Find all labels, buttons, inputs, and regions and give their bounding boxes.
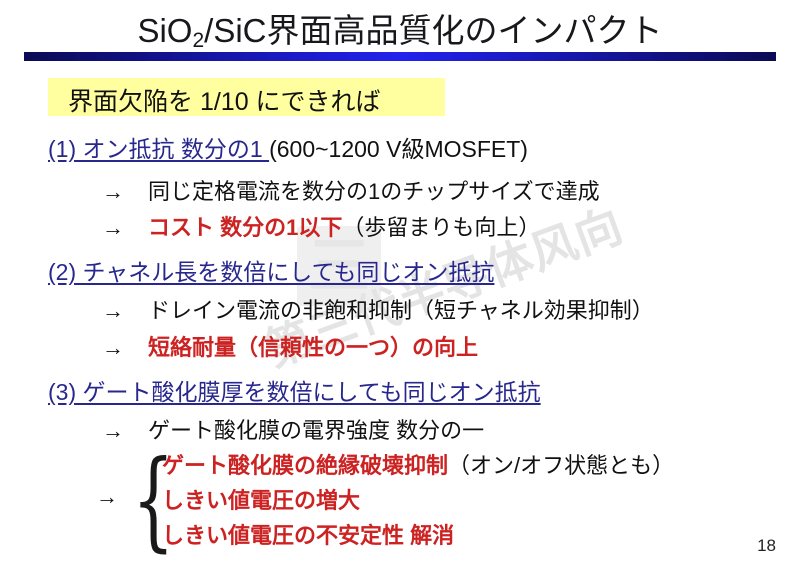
arrow-icon: → xyxy=(96,484,118,510)
brace-item-1: ゲート酸化膜の絶縁破壊抑制（オン/オフ状態とも） xyxy=(162,448,674,483)
brace-item-list: ゲート酸化膜の絶縁破壊抑制（オン/オフ状態とも） しきい値電圧の増大 しきい値電… xyxy=(162,448,674,553)
section-3-heading: (3) ゲート酸化膜厚を数倍にしても同じオン抵抗 xyxy=(48,373,541,407)
section-2-bullet-2-red: 短絡耐量（信頼性の一つ）の向上 xyxy=(148,335,478,360)
section-1-bullet-1: →同じ定格電流を数分の1のチップサイズで達成 xyxy=(102,174,600,206)
section-3-bullet-1-text: ゲート酸化膜の電界強度 数分の一 xyxy=(148,418,484,443)
section-1-heading-black: (600~1200 V級MOSFET) xyxy=(269,136,528,162)
page-number: 18 xyxy=(757,536,776,556)
section-2-bullet-1: →ドレイン電流の非飽和抑制（短チャネル効果抑制） xyxy=(102,293,654,325)
brace-item-1-red: ゲート酸化膜の絶縁破壊抑制 xyxy=(162,453,448,478)
section-1-bullet-2: →コスト 数分の1以下（歩留まりも向上） xyxy=(102,210,540,242)
slide-canvas: 三 第三代半导体风向 SiO2/SiC界面高品質化のインパクト 界面欠陥を 1/… xyxy=(0,0,800,566)
arrow-icon: → xyxy=(102,335,148,361)
section-1-bullet-2-black: （歩留まりも向上） xyxy=(342,215,540,240)
brace-item-3: しきい値電圧の不安定性 解消 xyxy=(162,518,674,553)
brace-item-1-black: （オン/オフ状態とも） xyxy=(448,453,674,478)
section-1-heading-blue: (1) オン抵抗 数分の1 xyxy=(48,136,269,162)
title-divider-bar xyxy=(24,52,776,61)
section-2-heading-blue: (2) チャネル長を数倍にしても同じオン抵抗 xyxy=(48,259,494,285)
highlight-box-label: 界面欠陥を 1/10 にできれば xyxy=(68,82,381,118)
section-2-heading: (2) チャネル長を数倍にしても同じオン抵抗 xyxy=(48,253,494,287)
highlight-box: 界面欠陥を 1/10 にできれば xyxy=(48,78,445,116)
title-subscript: 2 xyxy=(192,29,204,52)
arrow-icon: → xyxy=(102,215,148,241)
brace-item-2: しきい値電圧の増大 xyxy=(162,483,674,518)
arrow-icon: → xyxy=(102,179,148,205)
title-suffix: /SiC界面高品質化のインパクト xyxy=(204,12,662,49)
section-1-bullet-2-red: コスト 数分の1以下 xyxy=(148,215,342,240)
arrow-icon: → xyxy=(102,298,148,324)
title-prefix: SiO xyxy=(137,12,192,49)
section-2-bullet-2: →短絡耐量（信頼性の一つ）の向上 xyxy=(102,330,478,362)
brace-item-3-red: しきい値電圧の不安定性 解消 xyxy=(162,523,454,548)
slide-title: SiO2/SiC界面高品質化のインパクト xyxy=(0,4,800,52)
section-3-heading-blue: (3) ゲート酸化膜厚を数倍にしても同じオン抵抗 xyxy=(48,379,541,405)
section-2-bullet-1-text: ドレイン電流の非飽和抑制（短チャネル効果抑制） xyxy=(148,298,654,323)
brace-item-2-red: しきい値電圧の増大 xyxy=(162,488,360,513)
section-1-heading: (1) オン抵抗 数分の1 (600~1200 V級MOSFET) xyxy=(48,130,528,164)
section-1-bullet-1-text: 同じ定格電流を数分の1のチップサイズで達成 xyxy=(148,179,600,204)
